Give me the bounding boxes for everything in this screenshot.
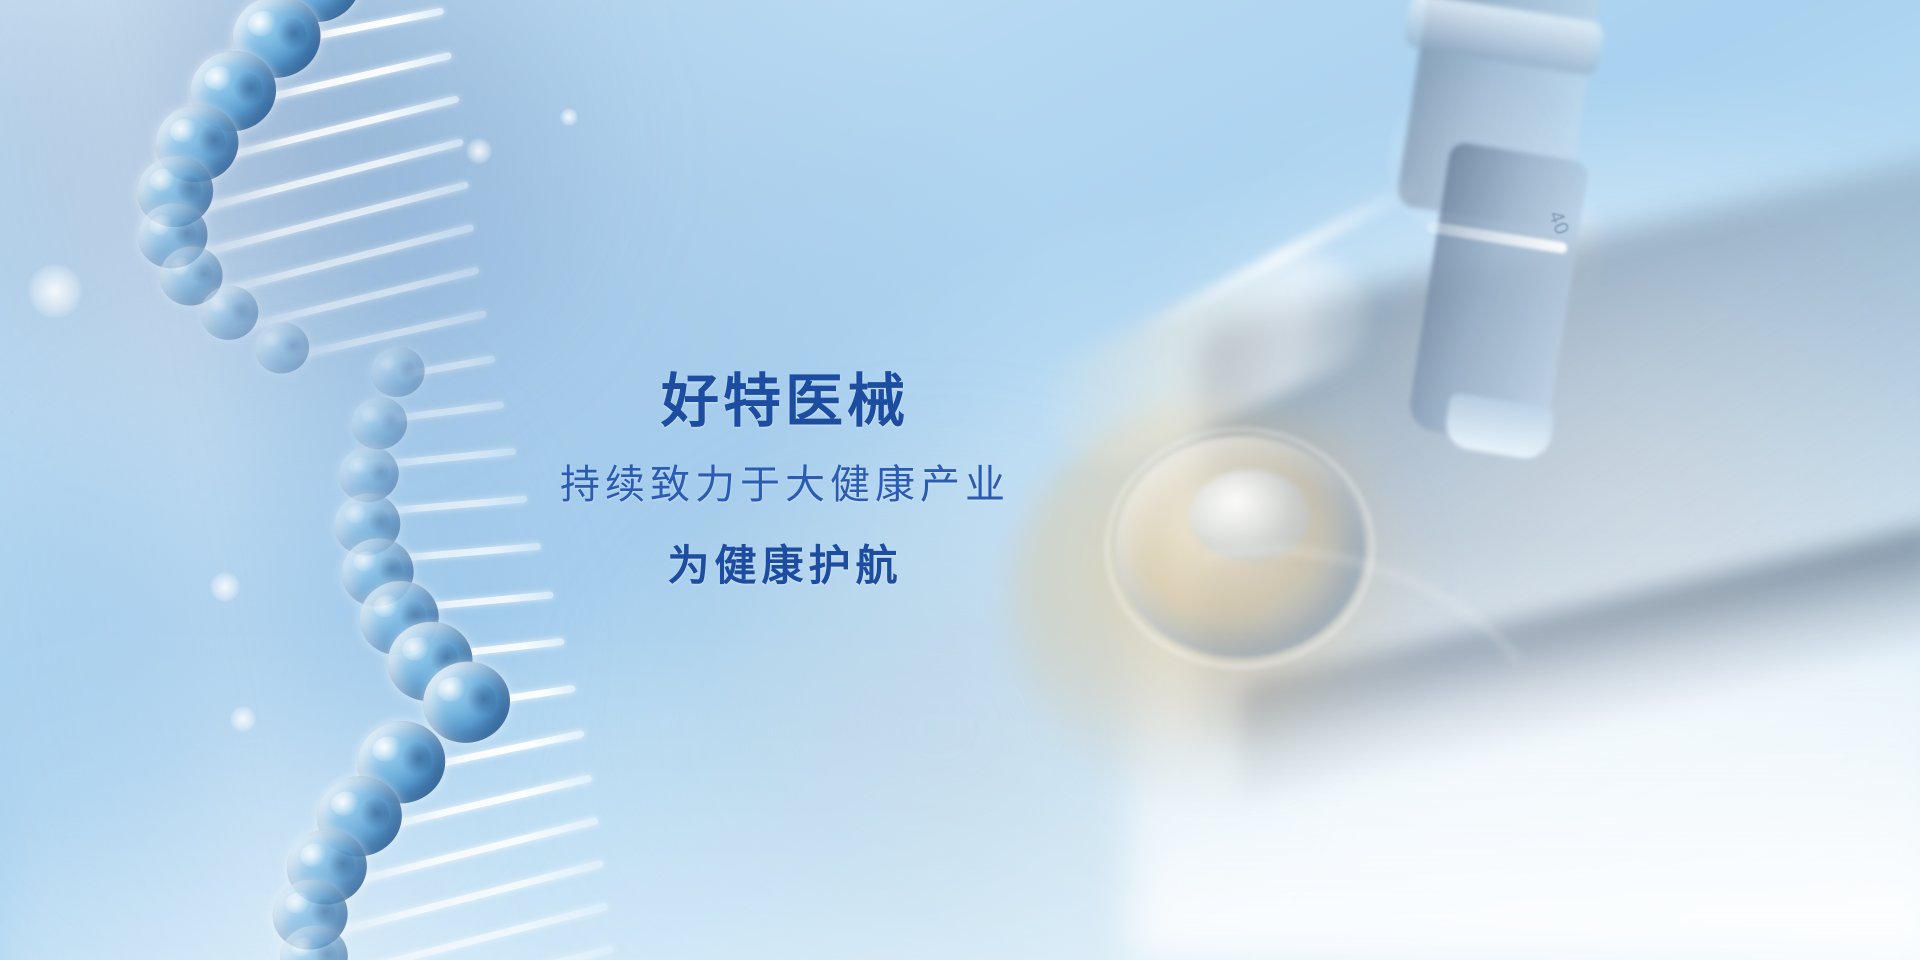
company-name-heading: 好特医械 (661, 373, 909, 431)
banner-subtitle: 持续致力于大健康产业 (560, 465, 1010, 505)
hero-banner: 40 好特医械 持续致力于大健康产业 为健康护航 (0, 0, 1920, 960)
banner-copy-block: 好特医械 持续致力于大健康产业 为健康护航 (0, 0, 1570, 960)
banner-tagline: 为健康护航 (667, 545, 902, 587)
